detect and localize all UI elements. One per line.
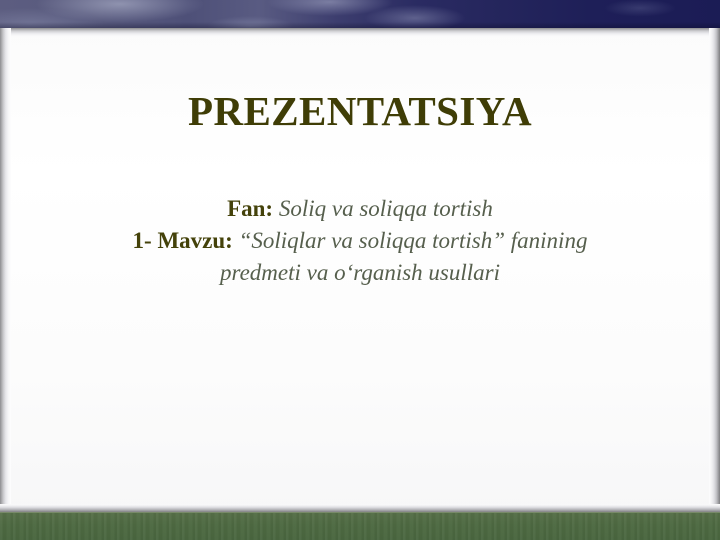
subject-value: Soliq va soliqqa tortish <box>279 196 493 221</box>
topic-value: “Soliqlar va soliqqa tortish” fanining <box>239 228 588 253</box>
grass-texture <box>0 513 720 540</box>
presentation-slide: PREZENTATSIYA Fan: Soliq va soliqqa tort… <box>0 0 720 540</box>
body-line-subject: Fan: Soliq va soliqqa tortish <box>41 193 679 225</box>
slide-title: PREZENTATSIYA <box>11 89 709 133</box>
slide-content-area: PREZENTATSIYA Fan: Soliq va soliqqa tort… <box>11 37 709 504</box>
topic-label: 1- Mavzu: <box>133 228 239 253</box>
frame-bevel-right <box>709 28 720 513</box>
topic-value-continued: predmeti va o‘rganish usullari <box>220 260 500 285</box>
frame-bevel-top <box>0 28 720 37</box>
frame-bevel-left <box>0 28 11 513</box>
slide-content-frame: PREZENTATSIYA Fan: Soliq va soliqqa tort… <box>0 28 720 513</box>
body-line-topic: 1- Mavzu: “Soliqlar va soliqqa tortish” … <box>41 225 679 257</box>
body-line-topic-cont: predmeti va o‘rganish usullari <box>41 257 679 289</box>
subject-label: Fan: <box>227 196 279 221</box>
slide-body-text: Fan: Soliq va soliqqa tortish 1- Mavzu: … <box>41 193 679 289</box>
